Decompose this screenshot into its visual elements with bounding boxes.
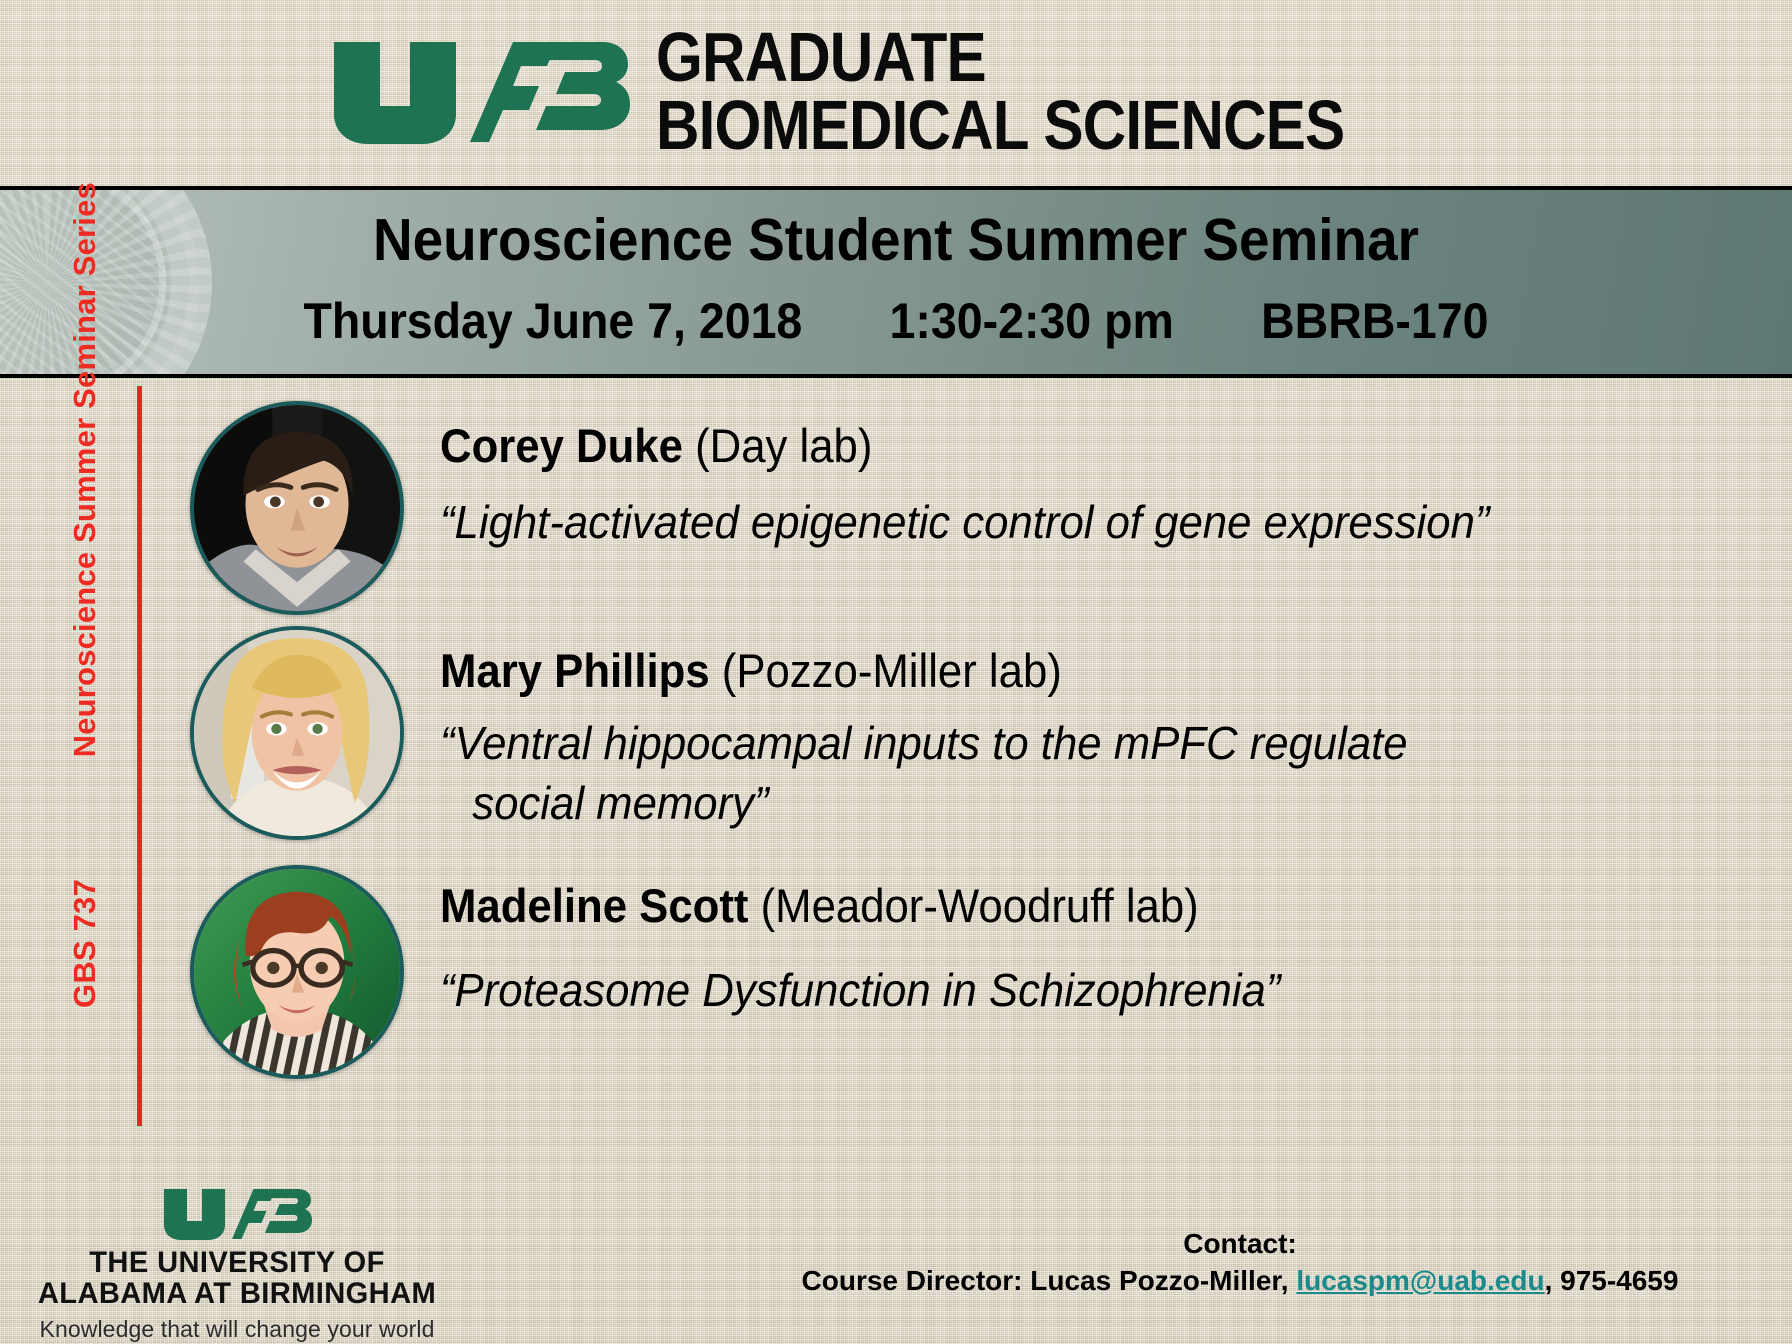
speaker-name: Madeline Scott xyxy=(440,879,748,932)
seminar-date: Thursday June 7, 2018 xyxy=(303,293,802,349)
speaker-text-block: Corey Duke (Day lab) “Light-activated ep… xyxy=(440,418,1545,549)
contact-email-link[interactable]: lucaspm@uab.edu xyxy=(1296,1265,1544,1296)
speaker-text-block: Mary Phillips (Pozzo-Miller lab) “Ventra… xyxy=(440,643,1459,830)
contact-details: Course Director: Lucas Pozzo-Miller, luc… xyxy=(710,1265,1770,1297)
seminar-title: Neuroscience Student Summer Seminar xyxy=(63,206,1730,274)
uab-logo-icon xyxy=(162,1185,312,1243)
uab-logo-icon xyxy=(330,34,630,150)
seminar-room: BBRB-170 xyxy=(1261,293,1488,349)
speaker-name: Corey Duke xyxy=(440,419,683,472)
talk-title: “Ventral hippocampal inputs to the mPFC … xyxy=(440,716,1408,770)
avatar xyxy=(190,626,404,840)
speaker-name: Mary Phillips xyxy=(440,644,710,697)
speaker-name-line: Madeline Scott (Meador-Woodruff lab) xyxy=(440,878,1263,933)
seminar-poster: GRADUATE BIOMEDICAL SCIENCES Neuroscienc… xyxy=(0,0,1792,1344)
talk-title: “Proteasome Dysfunction in Schizophrenia… xyxy=(440,963,1280,1017)
seminar-datetime-location: Thursday June 7, 2018 1:30-2:30 pm BBRB-… xyxy=(63,292,1730,350)
series-label: GBS 737 Neuroscience Summer Seminar Seri… xyxy=(67,308,103,1008)
header-bar: GRADUATE BIOMEDICAL SCIENCES xyxy=(0,0,1792,186)
speaker-name-line: Mary Phillips (Pozzo-Miller lab) xyxy=(440,643,1387,698)
contact-director: Course Director: Lucas Pozzo-Miller, xyxy=(802,1265,1297,1296)
series-name: Neuroscience Summer Seminar Series xyxy=(67,182,102,757)
speaker-lab: (Pozzo-Miller lab) xyxy=(722,644,1062,697)
talk-title: “Light-activated epigenetic control of g… xyxy=(440,495,1489,549)
side-rail-divider xyxy=(137,386,142,1126)
university-tagline: Knowledge that will change your world xyxy=(22,1316,452,1343)
header-line-graduate: GRADUATE xyxy=(656,24,1344,92)
uab-graduate-biomedical-sciences-logo: GRADUATE BIOMEDICAL SCIENCES xyxy=(330,24,1456,160)
series-course-code: GBS 737 xyxy=(67,879,102,1008)
speaker-name-line: Corey Duke (Day lab) xyxy=(440,418,1467,473)
avatar xyxy=(190,401,404,615)
portrait-madeline-scott xyxy=(194,869,400,1075)
avatar xyxy=(190,865,404,1079)
contact-phone: , 975-4659 xyxy=(1545,1265,1679,1296)
talk-title-continued: social memory” xyxy=(440,776,1408,830)
university-name-line1: THE UNIVERSITY OF xyxy=(28,1248,445,1279)
seminar-time: 1:30-2:30 pm xyxy=(890,293,1174,349)
uab-footer-logo: THE UNIVERSITY OF ALABAMA AT BIRMINGHAM … xyxy=(22,1185,452,1343)
portrait-mary-phillips xyxy=(194,630,400,836)
speaker-lab: (Meador-Woodruff lab) xyxy=(761,879,1199,932)
event-banner: Neuroscience Student Summer Seminar Thur… xyxy=(0,186,1792,378)
speaker-lab: (Day lab) xyxy=(695,419,872,472)
contact-heading: Contact: xyxy=(710,1228,1770,1260)
speaker-text-block: Madeline Scott (Meador-Woodruff lab) “Pr… xyxy=(440,878,1325,1017)
university-name-line2: ALABAMA AT BIRMINGHAM xyxy=(28,1279,445,1310)
header-line-biomedical-sciences: BIOMEDICAL SCIENCES xyxy=(656,92,1344,160)
portrait-corey-duke xyxy=(194,405,400,611)
contact-block: Contact: Course Director: Lucas Pozzo-Mi… xyxy=(710,1228,1770,1297)
